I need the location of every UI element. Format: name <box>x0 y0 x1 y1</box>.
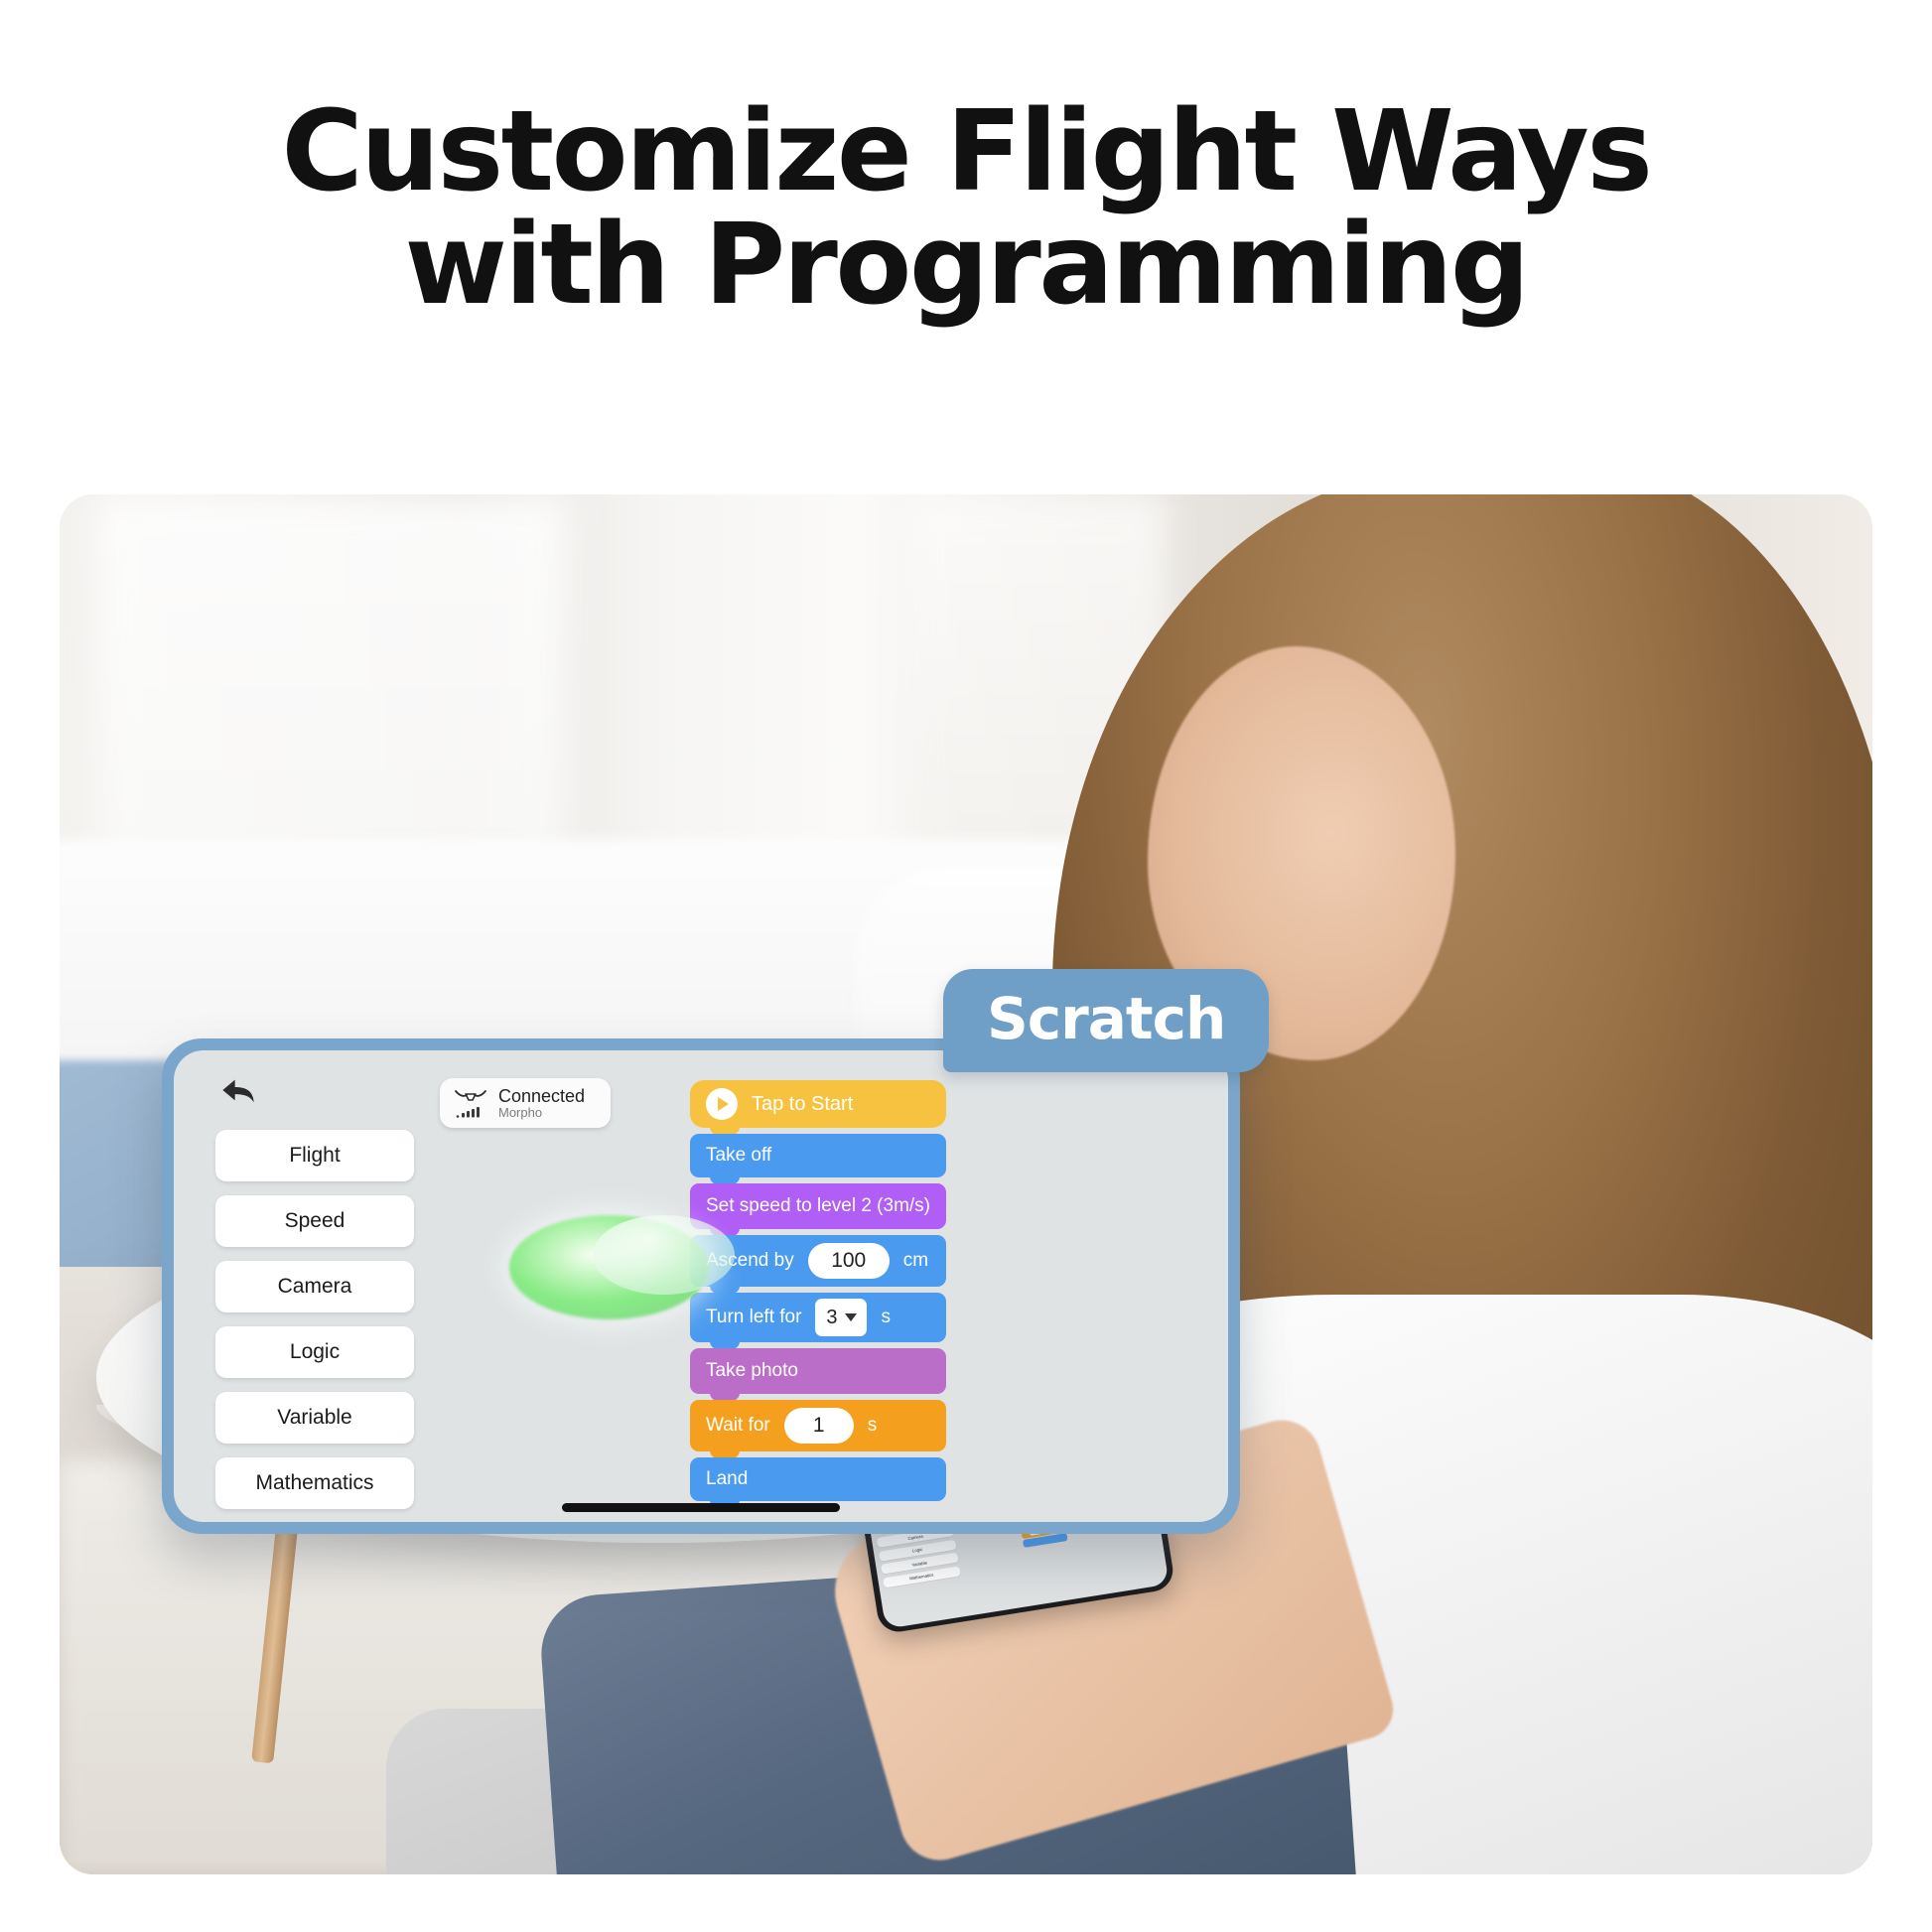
signal-bars-icon <box>456 1106 485 1118</box>
sidebar-item-mathematics[interactable]: Mathematics <box>215 1457 414 1509</box>
sidebar-item-speed[interactable]: Speed <box>215 1195 414 1247</box>
turn-left-duration-select[interactable]: 3 <box>815 1299 867 1336</box>
device-name: Morpho <box>498 1106 585 1121</box>
page-title: Customize Flight Ways with Programming <box>0 95 1932 322</box>
sidebar-item-flight[interactable]: Flight <box>215 1130 414 1181</box>
block-set-speed[interactable]: Set speed to level 2 (3m/s) <box>690 1183 946 1229</box>
turn-left-unit: s <box>881 1307 891 1328</box>
block-label: Wait for <box>706 1415 770 1437</box>
category-list[interactable]: Flight Speed Camera Logic Variable Mathe… <box>215 1130 414 1522</box>
connection-badge[interactable]: Connected Morpho <box>440 1078 611 1128</box>
drone-body <box>593 1215 735 1295</box>
home-indicator <box>562 1503 840 1512</box>
block-stack[interactable]: Tap to Start Take off Set speed to level… <box>690 1080 946 1507</box>
block-land[interactable]: Land <box>690 1457 946 1501</box>
back-arrow-icon[interactable] <box>215 1072 261 1112</box>
block-wait-for[interactable]: Wait for 1 s <box>690 1400 946 1451</box>
block-label: Turn left for <box>706 1307 801 1328</box>
wait-unit: s <box>868 1415 878 1437</box>
block-label: Take off <box>706 1145 771 1167</box>
ascend-unit: cm <box>903 1250 928 1272</box>
page-title-line2: with Programming <box>0 208 1932 322</box>
block-take-off[interactable]: Take off <box>690 1134 946 1177</box>
wait-value-input[interactable]: 1 <box>784 1408 854 1444</box>
block-label: Take photo <box>706 1360 798 1382</box>
play-icon <box>706 1088 738 1120</box>
page-title-line1: Customize Flight Ways <box>282 87 1651 216</box>
scratch-badge: Scratch <box>943 969 1269 1072</box>
sidebar-item-logic[interactable]: Logic <box>215 1326 414 1378</box>
chevron-down-icon[interactable] <box>845 1313 857 1321</box>
block-turn-left-for[interactable]: Turn left for 3 s <box>690 1293 946 1342</box>
block-label: Tap to Start <box>752 1093 853 1116</box>
block-label: Set speed to level 2 (3m/s) <box>706 1195 930 1217</box>
sidebar-item-variable[interactable]: Variable <box>215 1392 414 1444</box>
sidebar-item-camera[interactable]: Camera <box>215 1261 414 1312</box>
turn-left-duration-value: 3 <box>826 1307 837 1329</box>
ascend-value-input[interactable]: 100 <box>808 1243 890 1279</box>
product-feature-card: Customize Flight Ways with Programming <box>0 0 1932 1932</box>
connection-status: Connected <box>498 1086 585 1106</box>
block-tap-to-start[interactable]: Tap to Start <box>690 1080 946 1128</box>
drone-icon <box>452 1089 489 1118</box>
block-take-photo[interactable]: Take photo <box>690 1348 946 1394</box>
block-label: Land <box>706 1468 748 1490</box>
lifestyle-photo: Flight Speed Camera Logic Variable Mathe… <box>60 494 1872 1874</box>
